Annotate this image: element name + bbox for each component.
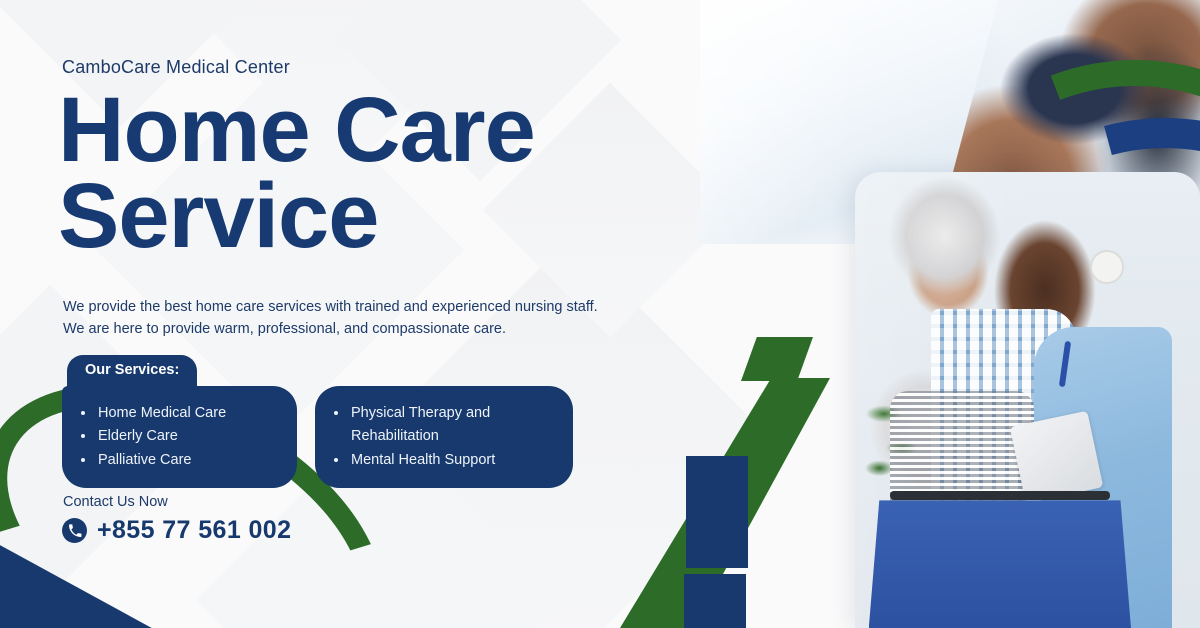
contact-phone-row[interactable]: +855 77 561 002	[62, 516, 291, 545]
navy-wedge-lower	[684, 574, 746, 628]
contact-label: Contact Us Now	[63, 494, 168, 510]
phone-number[interactable]: +855 77 561 002	[97, 516, 291, 545]
list-item: Home Medical Care	[72, 402, 275, 425]
description-line-1: We provide the best home care services w…	[63, 296, 598, 318]
wheelchair-seat	[890, 491, 1111, 500]
list-item: Physical Therapy and Rehabilitation	[325, 402, 551, 449]
page-title: Home Care Service	[58, 88, 535, 259]
tablet-device	[1010, 411, 1104, 503]
brand-name: CamboCare Medical Center	[62, 57, 290, 78]
services-box-primary: Home Medical Care Elderly Care Palliativ…	[62, 386, 297, 488]
wall-clock-icon	[1090, 250, 1124, 284]
services-box-secondary: Physical Therapy and Rehabilitation Ment…	[315, 386, 573, 488]
description-text: We provide the best home care services w…	[63, 296, 598, 341]
list-item: Mental Health Support	[325, 449, 551, 472]
navy-wedge-upper	[686, 456, 748, 568]
services-box-row: Home Medical Care Elderly Care Palliativ…	[62, 386, 573, 488]
services-section: Our Services: Home Medical Care Elderly …	[62, 355, 573, 488]
content-column: CamboCare Medical Center Home Care Servi…	[62, 0, 682, 628]
headline-line-2: Service	[58, 174, 535, 260]
list-item: Palliative Care	[72, 449, 275, 472]
elderly-couple-nurse-photo-card	[855, 172, 1200, 628]
services-list-primary: Home Medical Care Elderly Care Palliativ…	[72, 402, 275, 472]
home-care-service-banner: CamboCare Medical Center Home Care Servi…	[0, 0, 1200, 628]
services-list-secondary: Physical Therapy and Rehabilitation Ment…	[325, 402, 551, 472]
phone-icon	[62, 518, 87, 543]
wheelchair-frame	[869, 500, 1131, 628]
list-item: Elderly Care	[72, 425, 275, 448]
description-line-2: We are here to provide warm, professiona…	[63, 318, 598, 340]
services-tab-label: Our Services:	[67, 355, 197, 386]
